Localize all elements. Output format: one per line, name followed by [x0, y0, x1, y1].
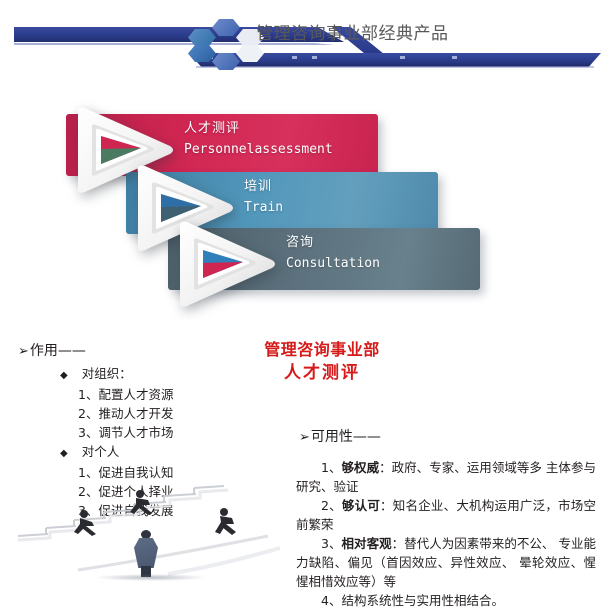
arrow-bullet-icon: ➢: [18, 345, 29, 358]
item-separator: ：: [392, 536, 405, 551]
page-title-line1: 管理咨询事业部: [232, 338, 412, 361]
list-item: 1、够权威：政府、专家、运用领域等多 主体参与研究、验证: [296, 458, 596, 496]
list-item: 3、相对客观：替代人为因素带来的不公、 专业能力缺陷、偏见（首因效应、异性效应、…: [296, 534, 596, 591]
item-separator: ：: [380, 498, 393, 513]
list-item: ◆对个人: [60, 442, 260, 463]
function-section-title: ➢作用——: [18, 342, 86, 360]
banner-consultation-label: 咨询 Consultation: [286, 233, 380, 275]
arrow-banner-group: 人才测评 Personnelassessment 培训 Train 咨询 Con…: [0, 96, 601, 316]
group-heading: 对组织：: [82, 366, 132, 381]
hexagon-cluster-logo: [186, 19, 264, 67]
item-number: 4、: [321, 593, 341, 608]
hexagon-icon: [188, 45, 216, 62]
item-number: 1、: [321, 460, 342, 475]
item-separator: ：: [379, 460, 392, 475]
bottom-slide: ➢作用—— ◆对组织： 1、配置人才资源 2、推动人才开发 3、调节人才市场 ◆…: [0, 320, 601, 614]
item-number: 2、: [321, 498, 342, 513]
list-item: 2、推动人才开发: [60, 404, 260, 423]
stairs-climbing-people-illustration: [18, 478, 288, 598]
diamond-bullet-icon: ◆: [60, 370, 68, 381]
figure-body: [134, 538, 158, 568]
item-term: 够权威: [342, 460, 380, 475]
play-triangle-icon[interactable]: [172, 216, 280, 312]
list-item: 2、够认可：知名企业、大机构运用广泛，市场空前繁荣: [296, 496, 596, 534]
slide-title: 管理咨询事业部经典产品: [256, 22, 449, 46]
figure-shadow: [96, 574, 206, 581]
figure-head: [141, 530, 151, 539]
usability-list: 1、够权威：政府、专家、运用领域等多 主体参与研究、验证 2、够认可：知名企业、…: [296, 458, 596, 610]
function-section-title-text: 作用——: [30, 343, 86, 359]
list-item: ◆对组织：: [60, 364, 260, 385]
page-title-line2: 人才测评: [232, 361, 412, 385]
banner-assessment-cn: 人才测评: [184, 119, 333, 139]
banner-train-cn: 培训: [244, 177, 283, 197]
banner-train-label: 培训 Train: [244, 177, 283, 219]
item-term: 相对客观: [342, 536, 392, 551]
banner-consultation-en: Consultation: [286, 253, 380, 275]
list-item: 3、调节人才市场: [60, 423, 260, 442]
item-term: 够认可: [342, 498, 380, 513]
hexagon-icon: [188, 29, 216, 46]
top-slide: 管理咨询事业部经典产品 人才测评 Personnelassessment 培训 …: [0, 0, 601, 320]
banner-consultation-cn: 咨询: [286, 233, 380, 253]
usability-section-title-text: 可用性——: [311, 429, 381, 445]
hexagon-icon: [212, 19, 240, 36]
diamond-bullet-icon: ◆: [60, 448, 68, 459]
list-item: 1、配置人才资源: [60, 385, 260, 404]
hexagon-icon: [236, 45, 264, 62]
group-heading: 对个人: [82, 444, 120, 459]
banner-assessment-en: Personnelassessment: [184, 139, 333, 161]
banner-assessment-label: 人才测评 Personnelassessment: [184, 119, 333, 161]
item-number: 3、: [321, 536, 342, 551]
item-text: 结构系统性与实用性相结合。: [341, 593, 504, 608]
businessman-figure: [133, 530, 159, 576]
arrow-bullet-icon: ➢: [299, 431, 310, 444]
usability-section-title: ➢可用性——: [299, 428, 381, 446]
page-title: 管理咨询事业部 人才测评: [232, 338, 412, 385]
list-item: 4、结构系统性与实用性相结合。: [296, 591, 596, 610]
